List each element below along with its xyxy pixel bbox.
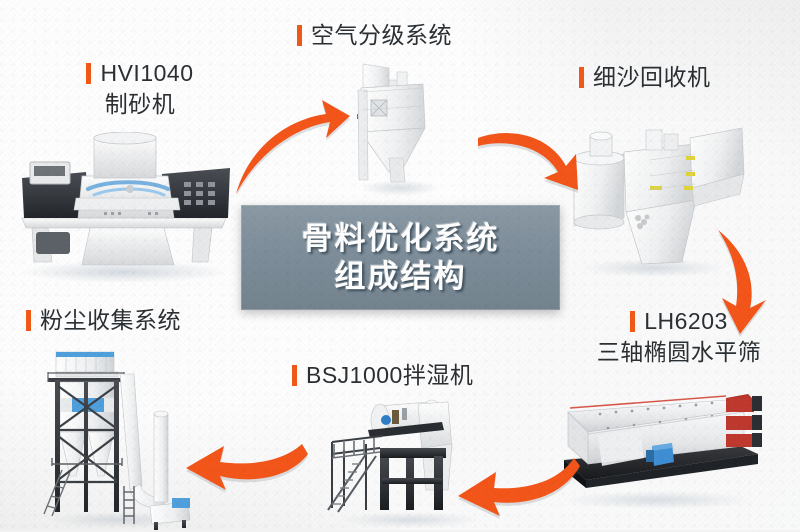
label-bar-icon xyxy=(86,63,91,84)
label-air-classifier-line1: 空气分级系统 xyxy=(311,22,452,48)
flow-arrow-2 xyxy=(478,112,590,196)
flow-arrow-5 xyxy=(182,420,312,510)
label-horizontal-screen: LH6203 三轴椭圆水平筛 xyxy=(560,306,798,368)
label-bar-icon xyxy=(26,310,31,331)
label-dust-collector-line1: 粉尘收集系统 xyxy=(40,307,181,333)
label-sand-recycler-line1: 细沙回收机 xyxy=(593,64,711,90)
label-bar-icon xyxy=(292,365,297,386)
label-wet-mixer-line1: BSJ1000拌湿机 xyxy=(306,362,473,388)
label-sand-maker-line1: HVI1040 xyxy=(100,60,193,86)
flow-arrow-4 xyxy=(452,440,584,532)
label-bar-icon xyxy=(579,67,584,88)
infographic-canvas: 骨料优化系统 组成结构 HVI1040 制砂机 空气分级系统 细沙回收机 LH6… xyxy=(0,0,800,530)
air-classifier-photo xyxy=(345,58,455,198)
vsi-sand-maker-photo xyxy=(8,132,240,282)
label-bar-icon xyxy=(297,25,302,46)
label-sand-recycler: 细沙回收机 xyxy=(579,62,711,93)
center-title-line2: 组成结构 xyxy=(335,258,467,296)
label-sand-maker-line2: 制砂机 xyxy=(45,89,235,120)
label-bar-icon xyxy=(630,311,635,332)
label-wet-mixer: BSJ1000拌湿机 xyxy=(292,360,473,391)
label-air-classifier: 空气分级系统 xyxy=(297,20,452,51)
flow-arrow-1 xyxy=(226,98,356,213)
label-dust-collector: 粉尘收集系统 xyxy=(26,305,181,336)
center-title-line1: 骨料优化系统 xyxy=(302,220,500,258)
label-horizontal-screen-line1: LH6203 xyxy=(644,308,728,334)
center-title-plate: 骨料优化系统 组成结构 xyxy=(241,205,560,310)
label-sand-maker: HVI1040 制砂机 xyxy=(45,58,235,120)
dust-collection-system-photo xyxy=(38,340,200,530)
label-horizontal-screen-line2: 三轴椭圆水平筛 xyxy=(560,337,798,368)
